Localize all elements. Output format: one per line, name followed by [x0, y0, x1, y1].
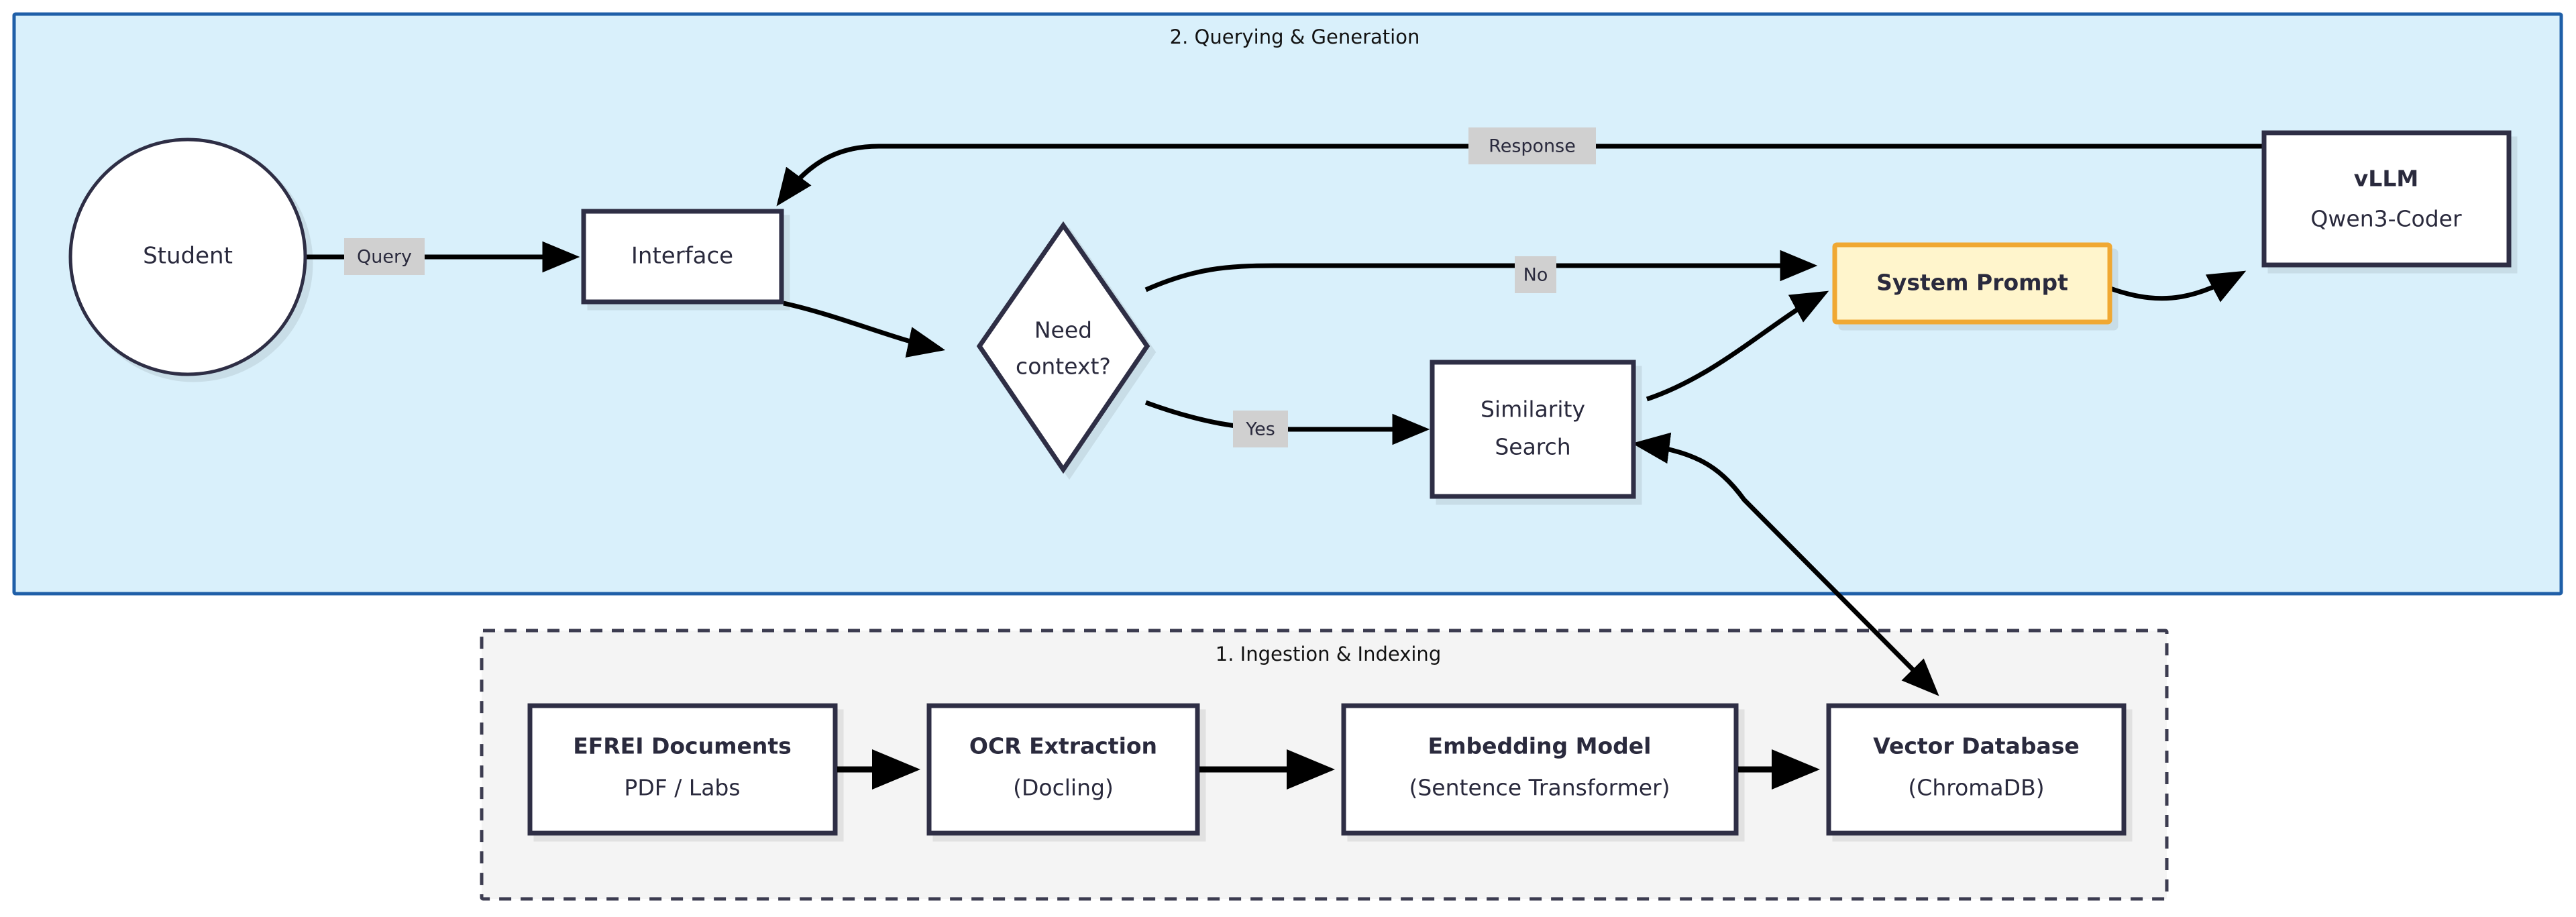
ingestion-panel-title: 1. Ingestion & Indexing [1216, 643, 1441, 665]
diagram-canvas: Student Interface Need context? Similari… [0, 0, 2576, 917]
querying-panel-title: 2. Querying & Generation [1170, 25, 1420, 48]
titles-layer: 2. Querying & Generation 1. Ingestion & … [0, 0, 2576, 917]
